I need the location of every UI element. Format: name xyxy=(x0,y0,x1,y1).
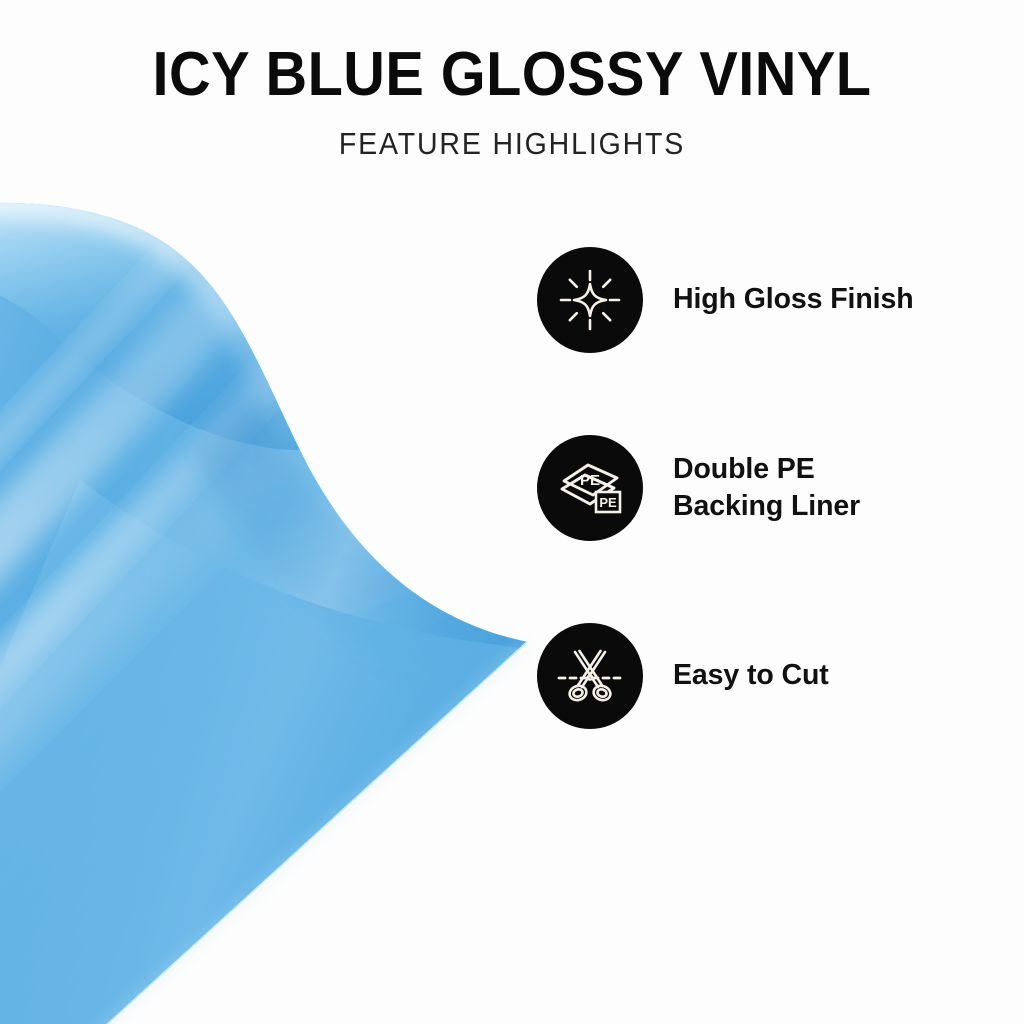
feature-item-high-gloss-finish[interactable]: High Gloss Finish xyxy=(537,232,977,368)
feature-item-double-pe-backing-liner[interactable]: PE PE Double PE Backing Liner xyxy=(537,420,977,556)
page-title: ICY BLUE GLOSSY VINYL xyxy=(36,44,988,106)
poster-canvas: ICY BLUE GLOSSY VINYL FEATURE HIGHLIGHTS xyxy=(0,0,1024,1024)
page-subtitle: FEATURE HIGHLIGHTS xyxy=(41,128,983,159)
double-pe-layers-icon: PE PE xyxy=(537,435,643,541)
feature-label: Easy to Cut xyxy=(673,657,829,694)
poster-header: ICY BLUE GLOSSY VINYL FEATURE HIGHLIGHTS xyxy=(0,0,1024,159)
scissors-cut-icon xyxy=(537,623,643,729)
feature-label: Double PE Backing Liner xyxy=(673,451,860,525)
feature-item-easy-to-cut[interactable]: Easy to Cut xyxy=(537,608,977,744)
product-image-vinyl-sheet xyxy=(0,150,580,1024)
feature-highlights-list: High Gloss Finish PE PE xyxy=(537,232,977,744)
svg-text:PE: PE xyxy=(580,472,600,489)
svg-text:PE: PE xyxy=(599,495,617,510)
sparkle-shine-icon xyxy=(537,247,643,353)
feature-label: High Gloss Finish xyxy=(673,281,914,318)
